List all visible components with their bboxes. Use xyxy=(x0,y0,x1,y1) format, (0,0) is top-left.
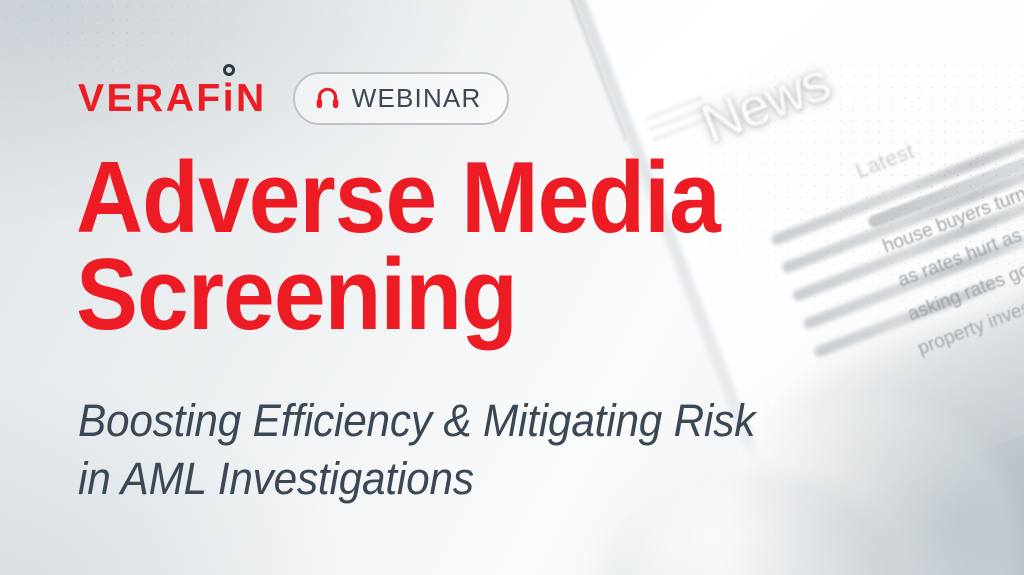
logo-text-before-i: VERAF xyxy=(78,77,223,120)
page-title: Adverse Media Screening xyxy=(76,150,840,344)
headset-icon xyxy=(314,85,341,112)
webinar-badge-label: WEBINAR xyxy=(352,83,482,114)
logo-text-after-i: N xyxy=(236,77,267,120)
header-row: VERAFiN WEBINAR xyxy=(78,72,509,125)
logo-ring-icon xyxy=(223,64,235,76)
page-subtitle: Boosting Efficiency & Mitigating Risk in… xyxy=(78,392,849,507)
banner-content: VERAFiN WEBINAR Adverse Media Screening … xyxy=(0,0,1024,575)
logo-i-glyph: i xyxy=(223,77,236,120)
logo-letter-i: i xyxy=(223,79,236,118)
verafin-logo: VERAFiN xyxy=(78,79,267,118)
webinar-promo-banner: News Latest house buyers turn as rates h… xyxy=(0,0,1024,575)
webinar-badge[interactable]: WEBINAR xyxy=(293,72,510,125)
